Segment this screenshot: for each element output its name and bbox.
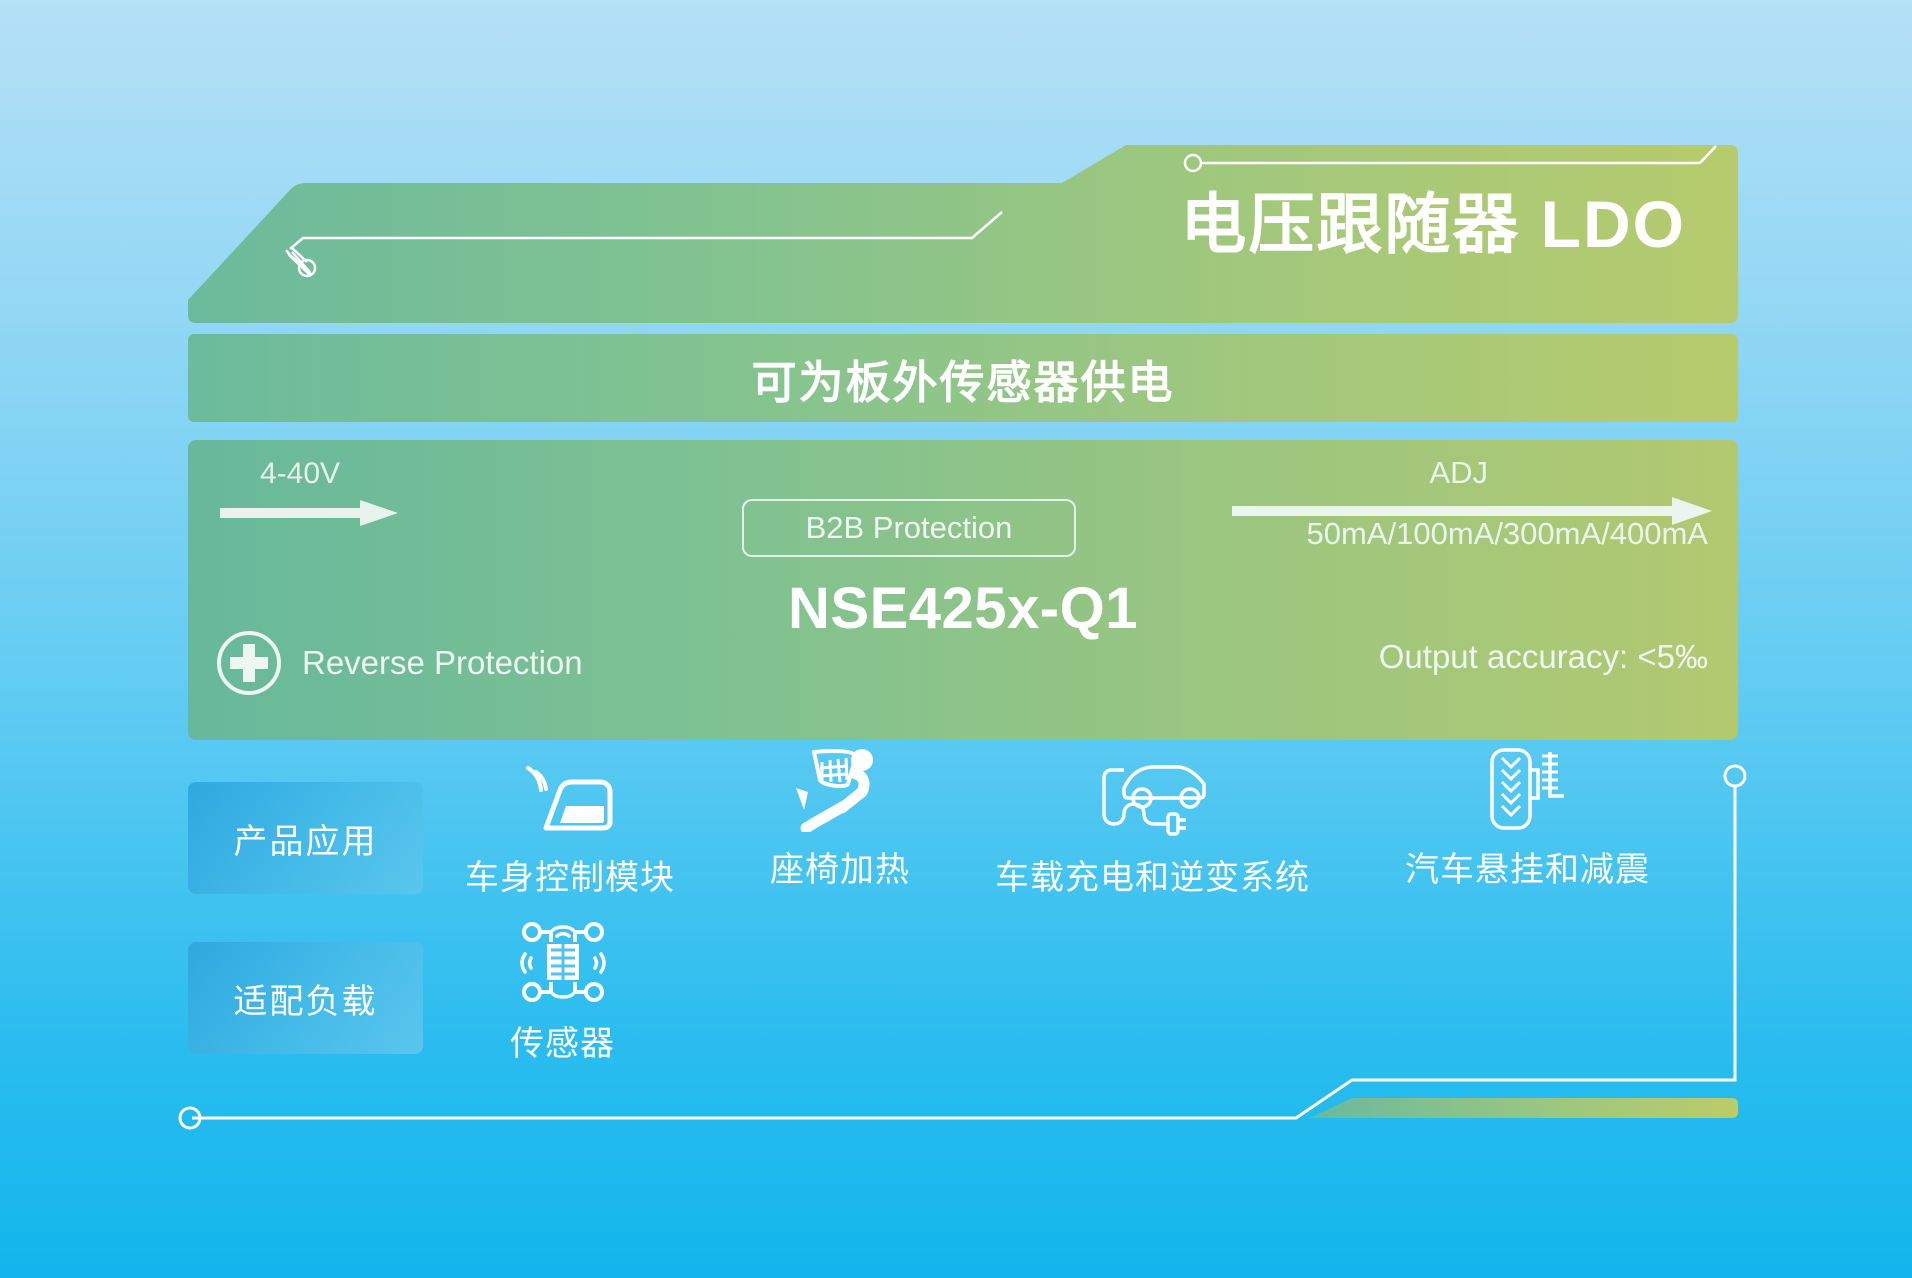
category-label-applications: 产品应用 xyxy=(234,814,378,863)
ev-charging-icon xyxy=(1094,766,1212,840)
application-item: 汽车悬挂和减震 xyxy=(1405,758,1650,891)
spec-panel: 4-40V B2B Protection NSE425x-Q1 ADJ 50mA… xyxy=(188,440,1738,740)
reverse-protection-label: Reverse Protection xyxy=(302,644,583,682)
input-voltage-label: 4-40V xyxy=(260,457,340,491)
subtitle-bar: 可为板外传感器供电 xyxy=(188,334,1738,422)
application-label: 座椅加热 xyxy=(770,842,910,891)
subtitle-text: 可为板外传感器供电 xyxy=(751,346,1174,411)
seat-heating-icon xyxy=(790,758,890,832)
footer-green-bar xyxy=(1310,1098,1738,1118)
input-arrow-icon xyxy=(220,500,398,526)
sensor-chip-icon xyxy=(515,932,611,1006)
infographic-root: 电压跟随器 LDO 可为板外传感器供电 4-40V B2B Protection… xyxy=(0,0,1912,1278)
application-label: 车身控制模块 xyxy=(465,850,675,899)
output-accuracy-label: Output accuracy: <5‰ xyxy=(1379,638,1708,676)
plus-circle-icon xyxy=(216,630,282,696)
load-item: 传感器 xyxy=(510,932,615,1065)
b2b-protection-badge: B2B Protection xyxy=(742,499,1076,557)
category-chip-loads: 适配负载 xyxy=(188,942,423,1054)
category-label-loads: 适配负载 xyxy=(234,974,378,1023)
tire-suspension-icon xyxy=(1480,758,1576,832)
page-title: 电压跟随器 LDO xyxy=(1180,191,1686,257)
current-options-label: 50mA/100mA/300mA/400mA xyxy=(1307,516,1709,552)
footer-node-left xyxy=(180,1108,200,1128)
application-item: 座椅加热 xyxy=(770,758,910,891)
application-item: 车身控制模块 xyxy=(465,766,675,899)
header-panel: 电压跟随器 LDO xyxy=(188,145,1738,323)
application-label: 汽车悬挂和减震 xyxy=(1405,842,1650,891)
car-door-icon xyxy=(522,766,618,840)
adj-label: ADJ xyxy=(1429,455,1488,491)
b2b-protection-label: B2B Protection xyxy=(806,510,1013,546)
category-chip-applications: 产品应用 xyxy=(188,782,423,894)
application-label: 车载充电和逆变系统 xyxy=(995,850,1310,899)
reverse-protection-group: Reverse Protection xyxy=(216,630,583,696)
application-item: 车载充电和逆变系统 xyxy=(995,766,1310,899)
load-label: 传感器 xyxy=(510,1016,615,1065)
footer-node-right xyxy=(1725,766,1745,786)
